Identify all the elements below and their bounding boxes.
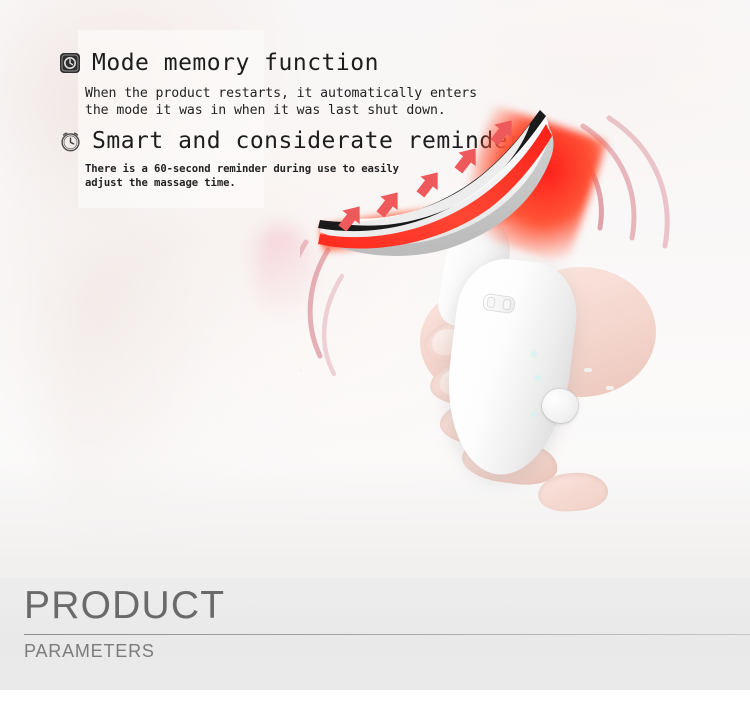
- led-indicator: [536, 376, 540, 380]
- banner-subtitle: PARAMETERS: [24, 642, 155, 660]
- red-direction-arrows: [328, 108, 578, 258]
- led-indicator: [532, 412, 536, 416]
- feature-title-row: Mode memory function: [57, 50, 477, 76]
- device-head: [310, 100, 580, 280]
- product-parameters-banner: PRODUCT PARAMETERS: [0, 578, 750, 690]
- bottom-white-strip: [0, 690, 750, 719]
- alarm-clock-icon: [57, 128, 83, 154]
- product-feature-page: Mode memory function When the product re…: [0, 0, 750, 719]
- feature-title: Mode memory function: [92, 52, 379, 75]
- plus-indicator: [584, 368, 592, 372]
- led-indicator: [532, 352, 536, 356]
- banner-divider: [24, 634, 750, 635]
- mode-memory-icon: [57, 50, 83, 76]
- banner-title: PRODUCT: [24, 586, 225, 625]
- minus-indicator: [606, 386, 614, 390]
- product-image: [300, 100, 690, 530]
- power-button[interactable]: [542, 389, 578, 423]
